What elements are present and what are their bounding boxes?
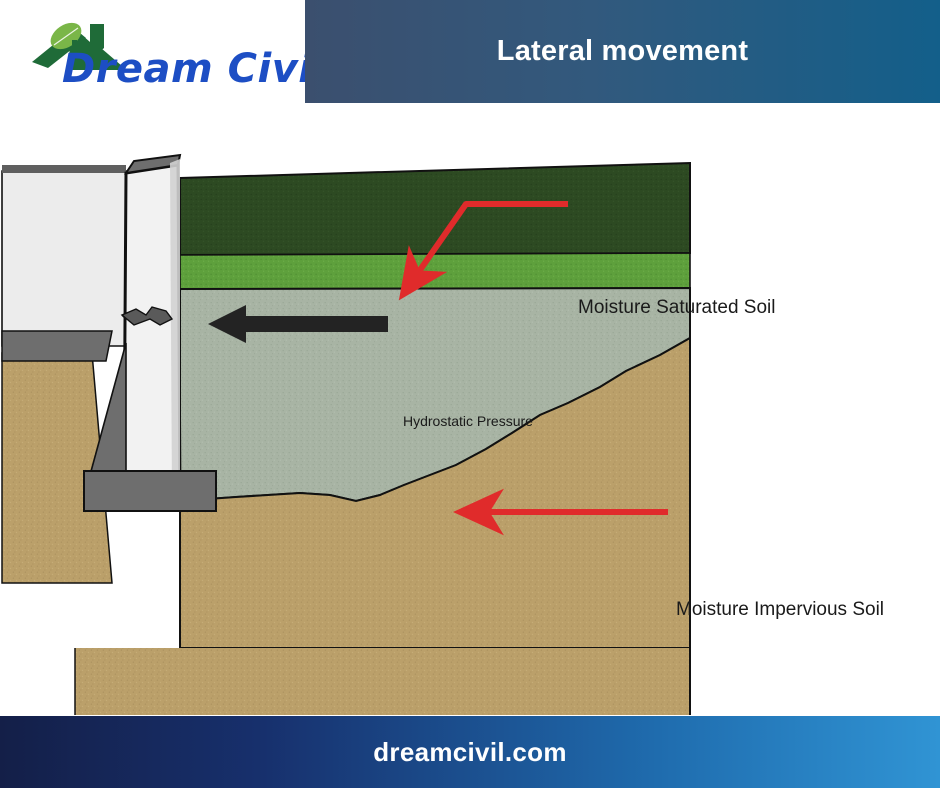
basement-interior <box>2 165 126 361</box>
page-title: Lateral movement <box>497 35 748 68</box>
wall-footing <box>84 471 216 511</box>
brand-name: Dream Civil <box>62 46 327 92</box>
header-bar: Lateral movement <box>305 0 940 103</box>
topsoil-layer <box>180 163 690 255</box>
diagram-canvas: Moisture Saturated Soil Moisture Impervi… <box>0 103 940 715</box>
footer-site-url: dreamcivil.com <box>373 737 567 768</box>
grass-layer <box>180 253 690 289</box>
lateral-movement-illustration <box>0 103 940 715</box>
brand-logo: Dream Civil <box>22 14 307 96</box>
label-moisture-impervious-soil: Moisture Impervious Soil <box>676 599 884 621</box>
footer-bar: dreamcivil.com <box>0 716 940 788</box>
label-hydrostatic-pressure: Hydrostatic Pressure <box>403 413 533 429</box>
label-moisture-saturated-soil: Moisture Saturated Soil <box>578 297 776 319</box>
